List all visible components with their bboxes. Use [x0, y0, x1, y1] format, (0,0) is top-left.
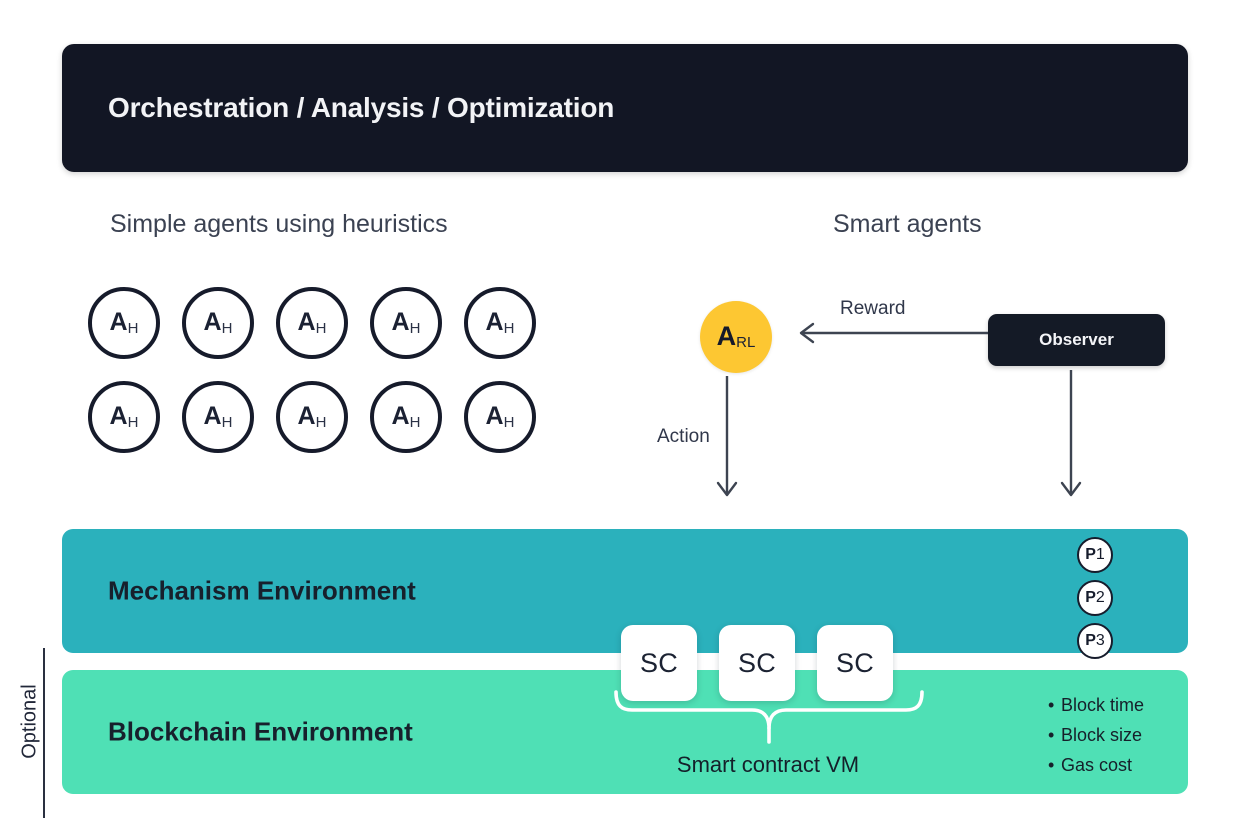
smart-contract-vm-label: Smart contract VM — [628, 752, 908, 778]
agent-letter: A — [486, 310, 504, 335]
protocol-badge-number: 1 — [1096, 547, 1105, 563]
observer-label: Observer — [1039, 330, 1114, 350]
reward-arrow-icon — [790, 322, 990, 344]
list-item-label: Gas cost — [1061, 755, 1132, 775]
agent-circle-heuristic[interactable]: AH — [182, 287, 254, 359]
agent-circle-heuristic[interactable]: AH — [370, 287, 442, 359]
list-item: •Gas cost — [1048, 750, 1188, 780]
orchestration-bar-title: Orchestration / Analysis / Optimization — [108, 92, 614, 124]
mechanism-environment-title: Mechanism Environment — [108, 576, 416, 607]
blockchain-environment-title: Blockchain Environment — [108, 717, 413, 748]
list-item-label: Block time — [1061, 695, 1144, 715]
smart-contract-box[interactable]: SC — [621, 625, 697, 701]
simple-agents-heading: Simple agents using heuristics — [110, 210, 448, 239]
agent-letter: A — [204, 310, 222, 335]
agent-circle-heuristic[interactable]: AH — [276, 381, 348, 453]
agent-subscript: RL — [736, 334, 755, 351]
optional-side-marker: Optional — [10, 648, 50, 818]
smart-contract-box[interactable]: SC — [817, 625, 893, 701]
agent-letter: A — [486, 404, 504, 429]
agent-letter: A — [717, 323, 737, 350]
agent-circle-heuristic[interactable]: AH — [276, 287, 348, 359]
agent-subscript: H — [222, 414, 233, 431]
blockchain-parameter-list: •Block time •Block size •Gas cost — [1048, 690, 1188, 780]
agent-subscript: H — [316, 320, 327, 337]
protocol-badge-letter: P — [1085, 633, 1096, 649]
orchestration-bar: Orchestration / Analysis / Optimization — [62, 44, 1188, 172]
agent-letter: A — [298, 310, 316, 335]
smart-contract-label: SC — [640, 648, 678, 679]
protocol-badge-p3[interactable]: P3 — [1077, 623, 1113, 659]
agent-letter: A — [298, 404, 316, 429]
agent-subscript: H — [128, 320, 139, 337]
smart-contract-box[interactable]: SC — [719, 625, 795, 701]
simple-agents-grid: AH AH AH AH AH AH AH AH — [88, 287, 558, 453]
protocol-badge-p2[interactable]: P2 — [1077, 580, 1113, 616]
protocol-badge-stack: P1 P2 P3 — [1077, 537, 1119, 666]
agent-circle-reinforcement-learning[interactable]: ARL — [700, 301, 772, 373]
agent-row: AH AH AH AH AH — [88, 381, 558, 453]
agent-letter: A — [204, 404, 222, 429]
list-item: •Block time — [1048, 690, 1188, 720]
action-arrow-icon — [716, 376, 738, 506]
agent-row: AH AH AH AH AH — [88, 287, 558, 359]
optional-label: Optional — [19, 660, 42, 784]
bullet-icon: • — [1048, 720, 1061, 750]
smart-agents-heading: Smart agents — [833, 210, 982, 239]
list-item: •Block size — [1048, 720, 1188, 750]
agent-letter: A — [110, 404, 128, 429]
agent-subscript: H — [316, 414, 327, 431]
agent-subscript: H — [410, 320, 421, 337]
agent-subscript: H — [410, 414, 421, 431]
observer-box[interactable]: Observer — [988, 314, 1165, 366]
agent-subscript: H — [504, 414, 515, 431]
agent-subscript: H — [128, 414, 139, 431]
agent-letter: A — [110, 310, 128, 335]
optional-rule-divider — [43, 648, 45, 818]
protocol-badge-letter: P — [1085, 590, 1096, 606]
action-arrow-label: Action — [657, 426, 710, 448]
bullet-icon: • — [1048, 690, 1061, 720]
agent-letter: A — [392, 404, 410, 429]
list-item-label: Block size — [1061, 725, 1142, 745]
protocol-badge-number: 3 — [1096, 633, 1105, 649]
agent-circle-heuristic[interactable]: AH — [464, 287, 536, 359]
protocol-badge-number: 2 — [1096, 590, 1105, 606]
agent-circle-heuristic[interactable]: AH — [182, 381, 254, 453]
agent-circle-heuristic[interactable]: AH — [370, 381, 442, 453]
diagram-canvas: Orchestration / Analysis / Optimization … — [0, 0, 1250, 836]
observation-arrow-icon — [1060, 370, 1082, 506]
bullet-icon: • — [1048, 750, 1061, 780]
smart-contract-label: SC — [738, 648, 776, 679]
agent-subscript: H — [504, 320, 515, 337]
agent-circle-heuristic[interactable]: AH — [88, 287, 160, 359]
protocol-badge-p1[interactable]: P1 — [1077, 537, 1113, 573]
reward-arrow-label: Reward — [840, 298, 905, 320]
agent-circle-heuristic[interactable]: AH — [88, 381, 160, 453]
smart-contract-label: SC — [836, 648, 874, 679]
agent-circle-heuristic[interactable]: AH — [464, 381, 536, 453]
agent-subscript: H — [222, 320, 233, 337]
protocol-badge-letter: P — [1085, 547, 1096, 563]
agent-letter: A — [392, 310, 410, 335]
